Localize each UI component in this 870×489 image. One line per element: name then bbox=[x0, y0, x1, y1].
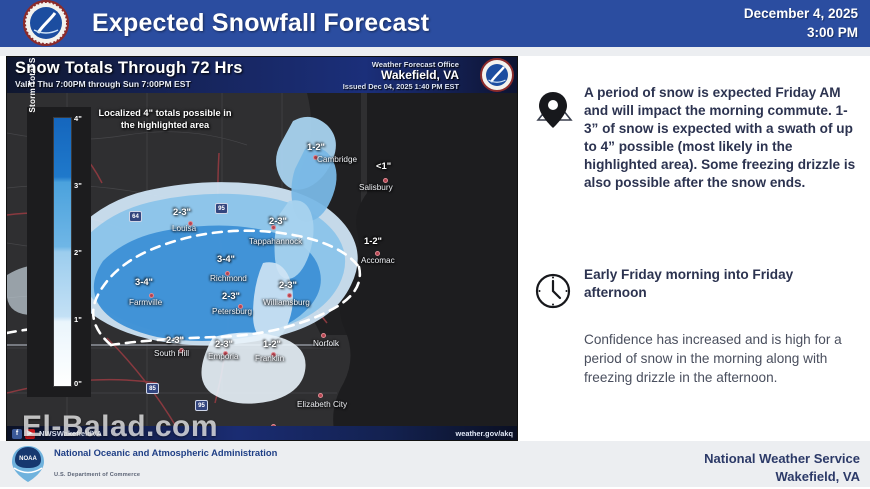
amount-cambridge: 1-2" bbox=[307, 141, 325, 152]
forecast-details-panel: A period of snow is expected Friday AM a… bbox=[522, 56, 870, 441]
nws-seal-icon bbox=[480, 58, 514, 92]
city-label-norfolk: Norfolk bbox=[313, 339, 339, 348]
legend-title: Storm Total Snow Amounts (in) bbox=[28, 56, 37, 149]
city-label-louisa: Louisa bbox=[172, 224, 196, 233]
amount-farmville: 3-4" bbox=[135, 276, 153, 287]
map-title: Snow Totals Through 72 Hrs bbox=[15, 59, 243, 78]
city-label-south-hill: South Hill bbox=[154, 349, 189, 358]
amount-emporia: 2-3" bbox=[215, 338, 233, 349]
social-handle: NWSWakefieldVA bbox=[39, 429, 102, 438]
city-dot-elizabeth-city bbox=[318, 393, 323, 398]
legend-tick-2: 2" bbox=[74, 248, 82, 257]
city-label-elizabeth-city: Elizabeth City bbox=[297, 400, 347, 409]
amount-williamsburg: 2-3" bbox=[279, 279, 297, 290]
snow-summary-row: A period of snow is expected Friday AM a… bbox=[522, 84, 870, 192]
city-label-emporia: Emporia bbox=[208, 352, 239, 361]
timing-row: Early Friday morning into Friday afterno… bbox=[522, 266, 870, 310]
amount-salisbury: <1" bbox=[376, 160, 391, 171]
page-footer: NOAA National Oceanic and Atmospheric Ad… bbox=[0, 441, 870, 487]
legend-tick-0: 0" bbox=[74, 379, 82, 388]
footer-office-block: National Weather Service Wakefield, VA bbox=[704, 450, 860, 486]
header-date: December 4, 2025 bbox=[744, 5, 858, 23]
city-label-salisbury: Salisbury bbox=[359, 183, 393, 192]
amount-accomac: 1-2" bbox=[364, 235, 382, 246]
highway-shield-64: 64 bbox=[129, 211, 142, 222]
svg-text:NOAA: NOAA bbox=[19, 456, 37, 462]
city-dot-tappahannock bbox=[271, 225, 276, 230]
map-pin-icon bbox=[522, 84, 584, 134]
page-header: Expected Snowfall Forecast December 4, 2… bbox=[0, 0, 870, 47]
snow-summary-text: A period of snow is expected Friday AM a… bbox=[584, 84, 870, 192]
city-label-tappahannock: Tappahannock bbox=[249, 237, 302, 246]
map-valid-period: Valid Thu 7:00PM through Sun 7:00PM EST bbox=[15, 79, 191, 89]
legend-tick-3: 3" bbox=[74, 181, 82, 190]
noaa-logo-icon: NOAA bbox=[8, 444, 48, 484]
map-issued-time: Issued Dec 04, 2025 1:40 PM EST bbox=[279, 82, 459, 91]
map-source-url[interactable]: weather.gov/akq bbox=[455, 429, 513, 438]
snowfall-map-panel[interactable]: Snow Totals Through 72 Hrs Valid Thu 7:0… bbox=[6, 56, 518, 441]
map-legend: Storm Total Snow Amounts (in) 4" 3" 2" 1… bbox=[27, 107, 91, 397]
facebook-icon[interactable]: f bbox=[12, 429, 22, 439]
footer-agency: National Weather Service bbox=[704, 450, 860, 468]
noaa-department: U.S. Department of Commerce bbox=[54, 472, 140, 478]
amount-petersburg: 2-3" bbox=[222, 290, 240, 301]
city-label-farmville: Farmville bbox=[129, 298, 162, 307]
header-divider bbox=[0, 47, 870, 56]
header-datetime: December 4, 2025 3:00 PM bbox=[744, 5, 870, 41]
city-label-petersburg: Petersburg bbox=[212, 307, 252, 316]
amount-south-hill: 2-3" bbox=[166, 334, 184, 345]
highway-shield-85: 85 bbox=[146, 383, 159, 394]
city-label-accomac: Accomac bbox=[361, 256, 395, 265]
map-canvas[interactable]: Storm Total Snow Amounts (in) 4" 3" 2" 1… bbox=[7, 93, 518, 441]
clock-icon bbox=[522, 266, 584, 310]
legend-tick-4: 4" bbox=[74, 114, 82, 123]
timing-text: Early Friday morning into Friday afterno… bbox=[584, 266, 870, 302]
city-label-franklin: Franklin bbox=[255, 354, 284, 363]
footer-office: Wakefield, VA bbox=[704, 468, 860, 486]
legend-colorbar bbox=[53, 117, 72, 387]
city-label-richmond: Richmond bbox=[210, 274, 247, 283]
page-title: Expected Snowfall Forecast bbox=[92, 9, 744, 38]
map-footer-bar: f ▶ NWSWakefieldVA weather.gov/akq bbox=[7, 426, 518, 441]
map-annotation: Localized 4" totals possible in the high… bbox=[95, 107, 235, 132]
nws-seal-icon bbox=[0, 0, 92, 47]
amount-richmond: 3-4" bbox=[217, 253, 235, 264]
map-office-name: Wakefield, VA bbox=[299, 68, 459, 82]
city-dot-norfolk bbox=[321, 333, 326, 338]
amount-louisa: 2-3" bbox=[173, 206, 191, 217]
map-banner: Snow Totals Through 72 Hrs Valid Thu 7:0… bbox=[7, 57, 518, 93]
city-label-williamsburg: Williamsburg bbox=[263, 298, 310, 307]
city-label-cambridge: Cambridge bbox=[317, 155, 357, 164]
highway-shield-95-south: 95 bbox=[195, 400, 208, 411]
youtube-icon[interactable]: ▶ bbox=[25, 429, 35, 439]
confidence-text: Confidence has increased and is high for… bbox=[584, 331, 860, 387]
legend-tick-1: 1" bbox=[74, 315, 82, 324]
noaa-agency-name: National Oceanic and Atmospheric Adminis… bbox=[54, 447, 277, 459]
highway-shield-95-north: 95 bbox=[215, 203, 228, 214]
header-time: 3:00 PM bbox=[744, 24, 858, 42]
amount-franklin: 1-2" bbox=[263, 338, 281, 349]
